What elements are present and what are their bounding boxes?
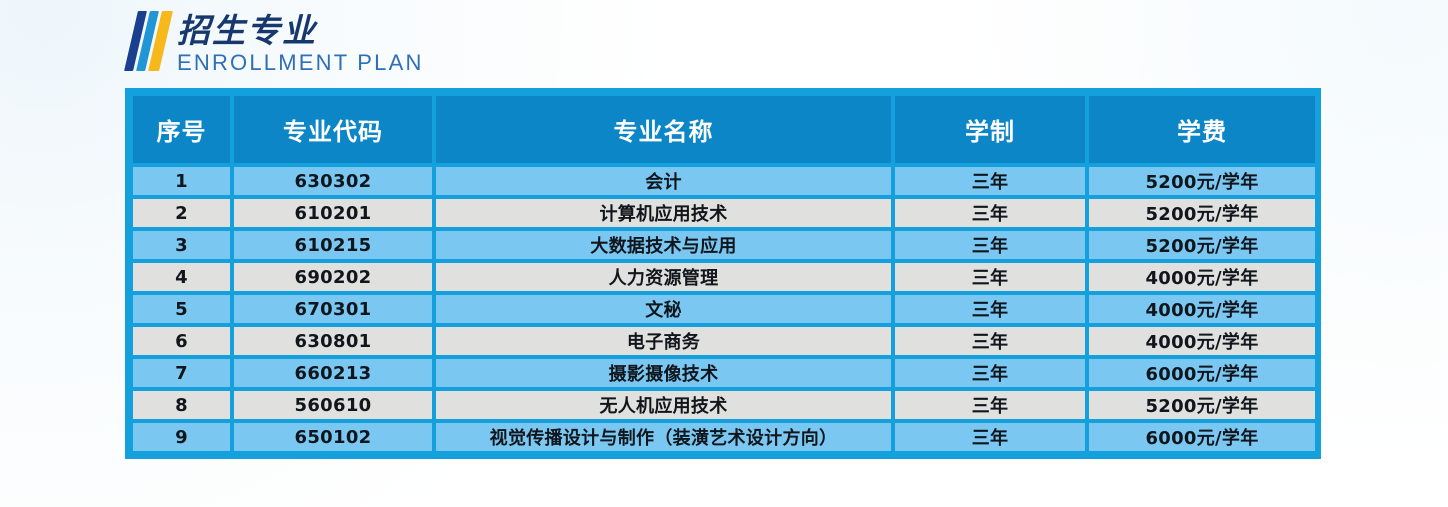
cell-name: 会计 xyxy=(436,167,891,195)
cell-fee: 4000元/学年 xyxy=(1089,327,1315,355)
cell-no: 6 xyxy=(133,327,230,355)
column-header-name: 专业名称 xyxy=(436,96,891,163)
table-row: 9 650102 视觉传播设计与制作（装潢艺术设计方向） 三年 6000元/学年 xyxy=(133,423,1315,451)
column-header-no: 序号 xyxy=(133,96,230,163)
cell-name: 电子商务 xyxy=(436,327,891,355)
cell-no: 8 xyxy=(133,391,230,419)
table-row: 3 610215 大数据技术与应用 三年 5200元/学年 xyxy=(133,231,1315,259)
table-row: 7 660213 摄影摄像技术 三年 6000元/学年 xyxy=(133,359,1315,387)
cell-code: 610201 xyxy=(234,199,432,227)
cell-code: 610215 xyxy=(234,231,432,259)
cell-length: 三年 xyxy=(895,359,1085,387)
cell-fee: 5200元/学年 xyxy=(1089,199,1315,227)
cell-length: 三年 xyxy=(895,231,1085,259)
page-heading: 招生专业 ENROLLMENT PLAN xyxy=(129,11,424,76)
table-row: 8 560610 无人机应用技术 三年 5200元/学年 xyxy=(133,391,1315,419)
page-subtitle: ENROLLMENT PLAN xyxy=(177,50,424,76)
enrollment-table: 序号 专业代码 专业名称 学制 学费 1 630302 会计 三年 5200元/… xyxy=(129,92,1319,455)
cell-code: 660213 xyxy=(234,359,432,387)
header-row: 序号 专业代码 专业名称 学制 学费 xyxy=(133,96,1315,163)
enrollment-table-container: 序号 专业代码 专业名称 学制 学费 1 630302 会计 三年 5200元/… xyxy=(125,88,1321,459)
cell-code: 690202 xyxy=(234,263,432,291)
cell-name: 视觉传播设计与制作（装潢艺术设计方向） xyxy=(436,423,891,451)
cell-no: 5 xyxy=(133,295,230,323)
cell-code: 670301 xyxy=(234,295,432,323)
cell-no: 1 xyxy=(133,167,230,195)
cell-length: 三年 xyxy=(895,391,1085,419)
cell-fee: 5200元/学年 xyxy=(1089,231,1315,259)
cell-fee: 5200元/学年 xyxy=(1089,167,1315,195)
table-row: 1 630302 会计 三年 5200元/学年 xyxy=(133,167,1315,195)
cell-name: 人力资源管理 xyxy=(436,263,891,291)
table-row: 5 670301 文秘 三年 4000元/学年 xyxy=(133,295,1315,323)
cell-code: 560610 xyxy=(234,391,432,419)
cell-fee: 4000元/学年 xyxy=(1089,263,1315,291)
table-row: 4 690202 人力资源管理 三年 4000元/学年 xyxy=(133,263,1315,291)
cell-length: 三年 xyxy=(895,167,1085,195)
cell-name: 大数据技术与应用 xyxy=(436,231,891,259)
cell-name: 计算机应用技术 xyxy=(436,199,891,227)
cell-length: 三年 xyxy=(895,295,1085,323)
table-row: 6 630801 电子商务 三年 4000元/学年 xyxy=(133,327,1315,355)
cell-no: 7 xyxy=(133,359,230,387)
table-header: 序号 专业代码 专业名称 学制 学费 xyxy=(133,96,1315,163)
cell-fee: 6000元/学年 xyxy=(1089,359,1315,387)
cell-no: 4 xyxy=(133,263,230,291)
cell-code: 630801 xyxy=(234,327,432,355)
logo-bars-icon xyxy=(129,11,169,71)
enrollment-plan-page: 招生专业 ENROLLMENT PLAN 序号 专业代码 专业名称 学制 学费 xyxy=(0,0,1448,507)
cell-length: 三年 xyxy=(895,199,1085,227)
cell-length: 三年 xyxy=(895,327,1085,355)
cell-fee: 6000元/学年 xyxy=(1089,423,1315,451)
cell-no: 3 xyxy=(133,231,230,259)
cell-name: 无人机应用技术 xyxy=(436,391,891,419)
cell-name: 文秘 xyxy=(436,295,891,323)
column-header-length: 学制 xyxy=(895,96,1085,163)
table-row: 2 610201 计算机应用技术 三年 5200元/学年 xyxy=(133,199,1315,227)
cell-code: 630302 xyxy=(234,167,432,195)
column-header-code: 专业代码 xyxy=(234,96,432,163)
table-body: 1 630302 会计 三年 5200元/学年 2 610201 计算机应用技术… xyxy=(133,167,1315,451)
cell-length: 三年 xyxy=(895,423,1085,451)
column-header-fee: 学费 xyxy=(1089,96,1315,163)
cell-no: 2 xyxy=(133,199,230,227)
cell-code: 650102 xyxy=(234,423,432,451)
cell-name: 摄影摄像技术 xyxy=(436,359,891,387)
cell-no: 9 xyxy=(133,423,230,451)
heading-texts: 招生专业 ENROLLMENT PLAN xyxy=(177,11,424,76)
cell-fee: 4000元/学年 xyxy=(1089,295,1315,323)
page-title: 招生专业 xyxy=(177,12,424,50)
cell-length: 三年 xyxy=(895,263,1085,291)
cell-fee: 5200元/学年 xyxy=(1089,391,1315,419)
